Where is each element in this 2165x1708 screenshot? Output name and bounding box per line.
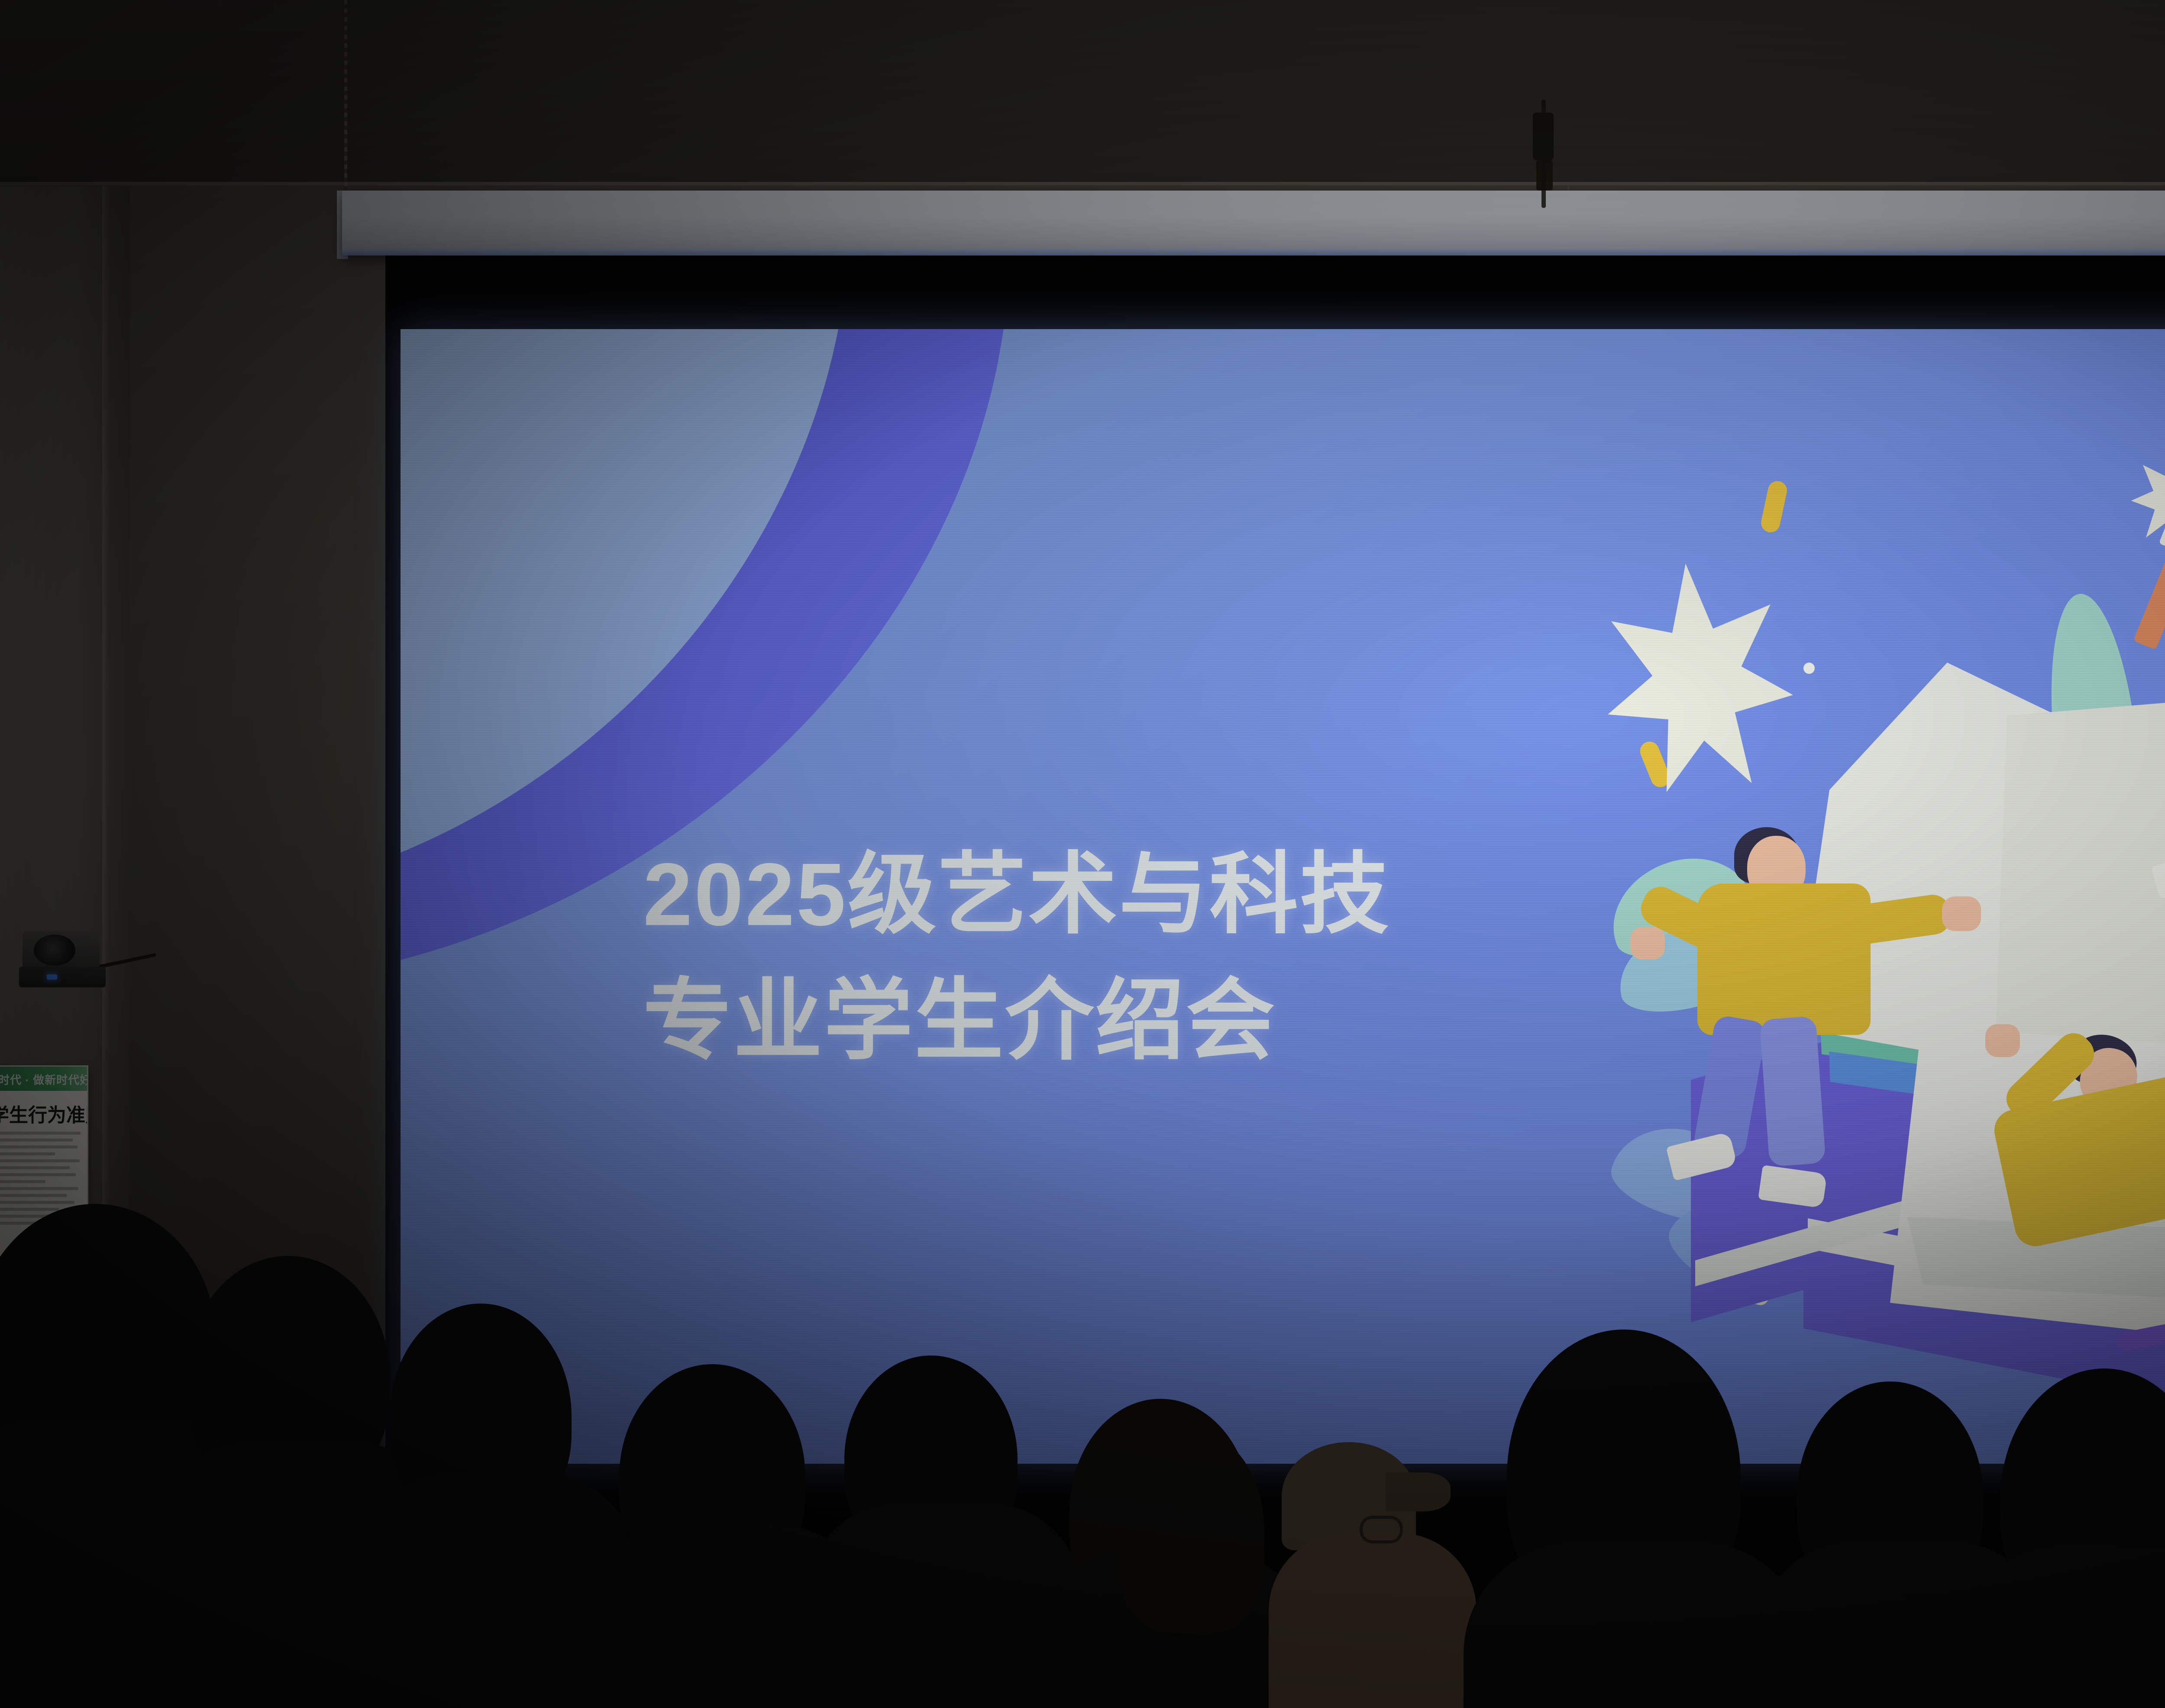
audience-shoulders-7 <box>1269 1533 1477 1708</box>
poster-band-text: 新时代 · 做新时代好学生 <box>0 1071 88 1087</box>
poster-header-band: 新时代 · 做新时代好学生 <box>0 1067 87 1091</box>
figure1-leg-right <box>1759 1016 1826 1167</box>
wall-cable <box>1541 100 1546 208</box>
poster-title: 校学生行为准则 <box>0 1100 88 1127</box>
projector-screen-housing <box>342 191 2165 256</box>
screen-hanging-chain <box>344 0 347 204</box>
presentation-scene: 2025级艺术与科技 专业学生介绍会 <box>0 0 2165 1708</box>
confetti-yellow-1 <box>1759 479 1789 534</box>
star-left <box>1593 554 1802 797</box>
wall-trim <box>0 182 2165 185</box>
figure1-torso <box>1697 883 1871 1035</box>
slide-title-line-1: 2025级艺术与科技 <box>643 831 1596 958</box>
figure2-pencil-eraser <box>2159 526 2165 552</box>
figure3-hand <box>1985 1024 2020 1057</box>
slide-title-line-2: 专业学生介绍会 <box>643 958 1596 1084</box>
glasses-icon-audience <box>1360 1516 1403 1543</box>
projected-slide: 2025级艺术与科技 专业学生介绍会 <box>401 329 2165 1464</box>
ptz-status-led <box>47 974 57 980</box>
slide-title: 2025级艺术与科技 专业学生介绍会 <box>643 831 1596 1084</box>
figure1-hand-right <box>1942 896 1981 931</box>
slide-illustration <box>1561 394 2165 1459</box>
cap-brim-icon <box>1386 1472 1451 1511</box>
sparkle-dot-1 <box>1803 663 1815 674</box>
audience-head-7 <box>1117 1429 1264 1633</box>
ptz-camera-base <box>19 967 106 987</box>
star-small-top <box>2125 444 2165 547</box>
ptz-camera-lens-icon <box>34 935 75 966</box>
figure1-hand-left <box>1630 927 1665 960</box>
figure2-pencil <box>2133 532 2165 650</box>
